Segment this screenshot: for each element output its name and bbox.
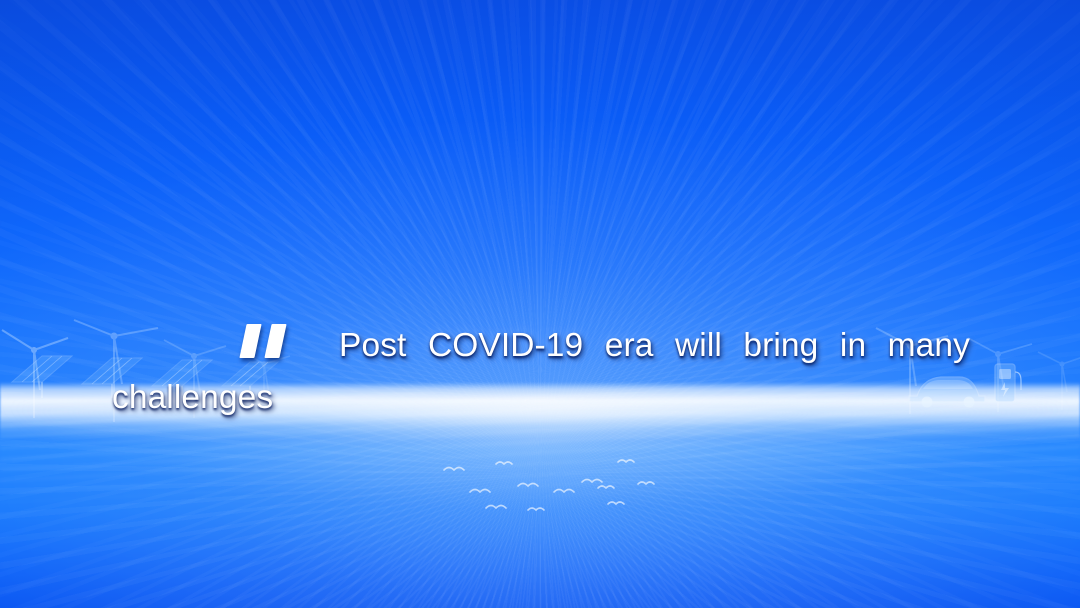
ev-charging-station-icon (995, 364, 1021, 402)
quote-slide: Post COVID-19 era will bring in many cha… (0, 0, 1080, 608)
quote-text-block: Post COVID-19 era will bring in many cha… (112, 112, 970, 608)
quote-line-1: Post COVID-19 era will bring in many cha… (112, 268, 970, 528)
open-quote-icon (241, 324, 295, 358)
